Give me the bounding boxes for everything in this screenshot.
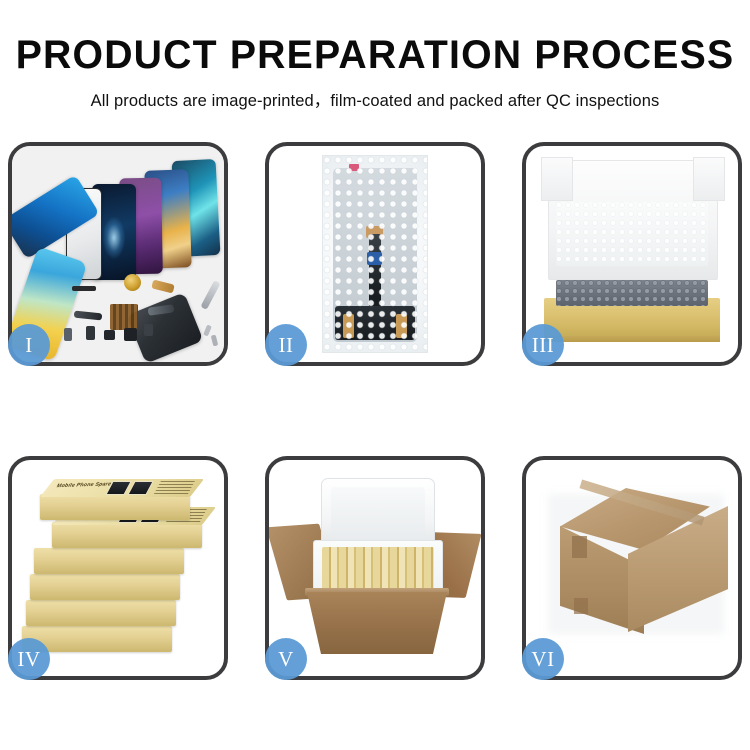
speaker-coil-part xyxy=(124,274,141,291)
small-part-1 xyxy=(86,326,95,340)
carton-body xyxy=(307,592,447,654)
small-part-2 xyxy=(104,330,115,340)
step-badge-3: III xyxy=(522,324,564,366)
step-badge-2: II xyxy=(265,324,307,366)
kraft-box-item xyxy=(26,600,176,626)
bubble-wrapped-contents xyxy=(556,280,708,306)
small-part-4 xyxy=(144,324,153,336)
screw-part-1 xyxy=(203,324,212,336)
lcd-driver-ic xyxy=(367,252,382,265)
header: PRODUCT PREPARATION PROCESS All products… xyxy=(0,0,750,111)
kraft-box-item xyxy=(30,574,180,600)
step-badge-1: I xyxy=(8,324,50,366)
bubble-wrap-bag xyxy=(322,155,428,353)
gold-contact-left xyxy=(343,314,354,338)
earpiece-part xyxy=(72,286,96,291)
foam-lid-inner xyxy=(331,487,425,539)
lcd-connector-tab xyxy=(366,226,383,238)
flex-cable-gold xyxy=(151,279,175,293)
flex-cable-dark xyxy=(74,311,103,321)
packed-kraft-boxes xyxy=(322,547,434,591)
kraft-box-item xyxy=(34,548,184,574)
step-badge-6: VI xyxy=(522,638,564,680)
tweezers-tool xyxy=(200,280,220,310)
lcd-flex-cable xyxy=(369,234,381,326)
carton-tape-patch-2 xyxy=(574,598,588,614)
carton-tape-patch-1 xyxy=(572,536,587,558)
kraft-box-item-labeled: Mobile Phone Spare Parts xyxy=(40,494,190,520)
step-panel-2: II xyxy=(265,142,485,366)
lcd-bottom-board xyxy=(335,306,415,340)
page-title: PRODUCT PREPARATION PROCESS xyxy=(8,0,743,76)
process-steps-grid: I II III xyxy=(8,142,742,680)
step-panel-6: VI xyxy=(522,456,742,680)
foam-sheet xyxy=(556,202,708,266)
step-panel-3: III xyxy=(522,142,742,366)
kraft-box-item-labeled: Mobile Phone Spare Parts xyxy=(52,522,202,548)
lcd-screen-inside xyxy=(333,168,417,342)
foam-lid xyxy=(321,478,435,548)
small-part-3 xyxy=(124,328,137,341)
pink-label-sticker xyxy=(349,164,359,171)
box-screen-image-2 xyxy=(127,481,153,495)
kraft-box-top-face: Mobile Phone Spare Parts xyxy=(40,479,204,497)
kraft-box-tray xyxy=(544,298,720,336)
small-part-5 xyxy=(64,328,72,341)
sealed-carton xyxy=(542,488,730,644)
chip-grid-part xyxy=(110,304,138,330)
step-panel-5: V xyxy=(265,456,485,680)
phone-back-housing xyxy=(127,292,204,362)
step-panel-1: I xyxy=(8,142,228,366)
step-badge-4: IV xyxy=(8,638,50,680)
page-subtitle: All products are image-printed，film-coat… xyxy=(0,76,750,111)
step-badge-5: V xyxy=(265,638,307,680)
screw-part-2 xyxy=(211,335,219,347)
kraft-box-stack: Mobile Phone Spare Parts Mobile Phone Sp… xyxy=(22,476,222,666)
box-spec-lines xyxy=(154,481,195,494)
step-panel-4: Mobile Phone Spare Parts Mobile Phone Sp… xyxy=(8,456,228,680)
gold-contact-right xyxy=(396,314,407,338)
